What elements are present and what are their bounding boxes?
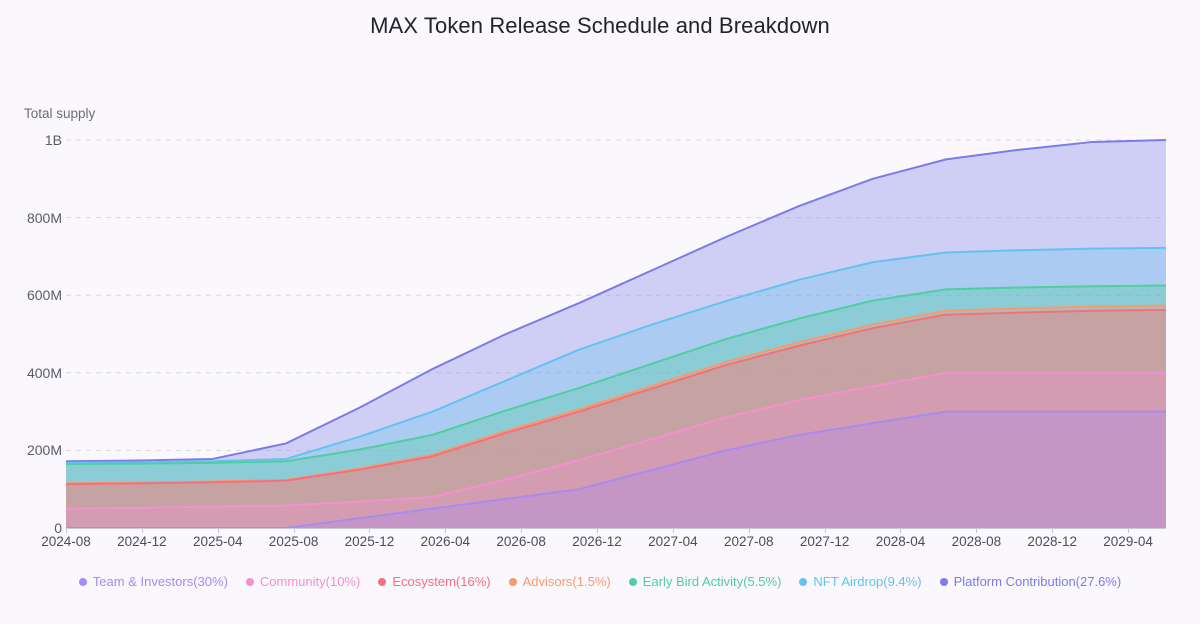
legend-dot-icon xyxy=(509,578,517,586)
page-title: MAX Token Release Schedule and Breakdown xyxy=(0,13,1200,39)
x-tick-mark xyxy=(976,528,977,533)
y-tick-label: 1B xyxy=(0,132,62,148)
x-tick-label: 2028-12 xyxy=(1027,534,1077,549)
x-tick-label: 2025-12 xyxy=(345,534,395,549)
x-tick-label: 2025-04 xyxy=(193,534,243,549)
x-tick-label: 2026-08 xyxy=(496,534,546,549)
legend-item[interactable]: NFT Airdrop(9.4%) xyxy=(799,574,921,589)
legend-label: Platform Contribution(27.6%) xyxy=(954,574,1122,589)
x-tick-mark xyxy=(749,528,750,533)
legend-label: Community(10%) xyxy=(260,574,360,589)
x-tick-mark xyxy=(597,528,598,533)
legend-item[interactable]: Team & Investors(30%) xyxy=(79,574,228,589)
legend-item[interactable]: Early Bird Activity(5.5%) xyxy=(629,574,782,589)
x-tick-label: 2028-08 xyxy=(952,534,1002,549)
x-tick-mark xyxy=(294,528,295,533)
x-tick-label: 2027-12 xyxy=(800,534,850,549)
x-tick-mark xyxy=(825,528,826,533)
legend-label: NFT Airdrop(9.4%) xyxy=(813,574,921,589)
x-tick-label: 2024-08 xyxy=(41,534,91,549)
legend-dot-icon xyxy=(940,578,948,586)
x-tick-mark xyxy=(66,528,67,533)
x-tick-mark xyxy=(521,528,522,533)
x-tick-label: 2028-04 xyxy=(876,534,926,549)
legend-dot-icon xyxy=(79,578,87,586)
y-axis-name: Total supply xyxy=(24,106,95,121)
legend-dot-icon xyxy=(378,578,386,586)
legend-label: Ecosystem(16%) xyxy=(392,574,490,589)
x-tick-label: 2027-08 xyxy=(724,534,774,549)
legend-label: Advisors(1.5%) xyxy=(523,574,611,589)
legend-item[interactable]: Advisors(1.5%) xyxy=(509,574,611,589)
legend-item[interactable]: Ecosystem(16%) xyxy=(378,574,490,589)
y-tick-label: 600M xyxy=(0,287,62,303)
x-tick-label: 2026-12 xyxy=(572,534,622,549)
x-tick-label: 2025-08 xyxy=(269,534,319,549)
legend-label: Early Bird Activity(5.5%) xyxy=(643,574,782,589)
x-tick-mark xyxy=(445,528,446,533)
plot-area xyxy=(66,140,1166,528)
x-tick-label: 2029-04 xyxy=(1103,534,1153,549)
x-tick-mark xyxy=(1052,528,1053,533)
x-tick-mark xyxy=(900,528,901,533)
x-tick-mark xyxy=(673,528,674,533)
x-axis-line xyxy=(66,528,1166,529)
x-tick-mark xyxy=(218,528,219,533)
legend-dot-icon xyxy=(246,578,254,586)
y-tick-label: 200M xyxy=(0,442,62,458)
legend-item[interactable]: Community(10%) xyxy=(246,574,360,589)
y-tick-label: 400M xyxy=(0,365,62,381)
x-tick-mark xyxy=(1128,528,1129,533)
x-tick-label: 2024-12 xyxy=(117,534,167,549)
legend-dot-icon xyxy=(799,578,807,586)
stacked-area-svg xyxy=(66,140,1166,528)
legend-dot-icon xyxy=(629,578,637,586)
chart-root: MAX Token Release Schedule and Breakdown… xyxy=(0,0,1200,624)
y-tick-label: 800M xyxy=(0,210,62,226)
x-tick-label: 2027-04 xyxy=(648,534,698,549)
chart-legend: Team & Investors(30%)Community(10%)Ecosy… xyxy=(0,574,1200,589)
x-tick-label: 2026-04 xyxy=(421,534,471,549)
x-tick-mark xyxy=(142,528,143,533)
legend-label: Team & Investors(30%) xyxy=(93,574,228,589)
legend-item[interactable]: Platform Contribution(27.6%) xyxy=(940,574,1122,589)
x-tick-mark xyxy=(369,528,370,533)
